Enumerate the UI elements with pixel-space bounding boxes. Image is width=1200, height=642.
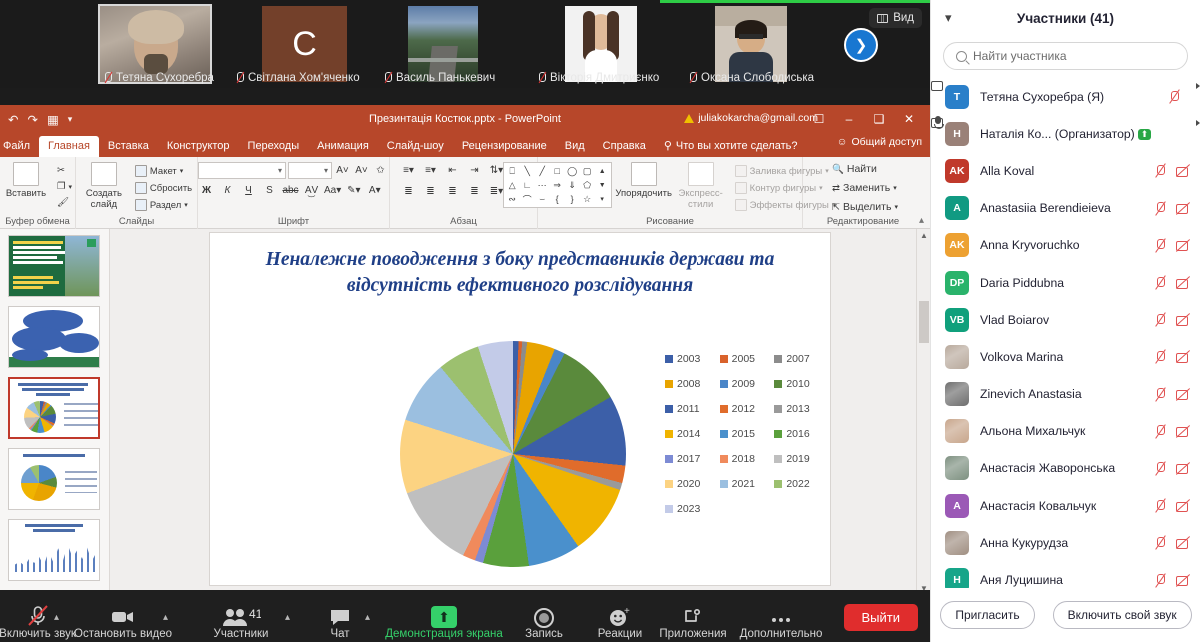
search-participant-input[interactable]: Найти участника <box>943 42 1188 70</box>
zoom-meeting-window: Тетяна Сухоребра С Світлана Хом'яченко <box>0 0 930 642</box>
participant-name: Anna Kryvoruchko <box>980 238 1153 252</box>
text-highlight-button[interactable]: ✎▾ <box>345 182 362 199</box>
legend-item: 2011 <box>665 403 716 415</box>
tab-home[interactable]: Главная <box>39 136 99 157</box>
participant-row[interactable]: AАнастасія Ковальчук <box>931 487 1200 524</box>
group-label: Шрифт <box>198 216 389 227</box>
mic-off-icon[interactable] <box>1153 387 1167 401</box>
avatar-initials: AK <box>945 159 969 183</box>
participant-status-icons <box>1153 201 1190 215</box>
slide-canvas-area[interactable]: Неналежне поводження з боку представникі… <box>110 229 930 610</box>
tab-animations[interactable]: Анимация <box>308 136 378 157</box>
section-button[interactable]: Раздел ▾ <box>133 198 194 212</box>
reactions-label: Реакции <box>598 628 642 640</box>
legend-item: 2005 <box>720 353 771 365</box>
legend-label: 2019 <box>786 453 809 465</box>
change-case-button[interactable]: Aa▾ <box>324 182 341 199</box>
section-label: Раздел <box>150 200 181 211</box>
ribbon-display-icon[interactable]: ☐ <box>804 112 834 126</box>
legend-swatch <box>774 405 782 413</box>
textbox-shape[interactable]: ⎕ <box>505 164 520 178</box>
legend-item: 2019 <box>774 453 825 465</box>
quick-styles-button[interactable]: Экспресс-стили <box>676 162 726 210</box>
legend-label: 2011 <box>677 403 700 415</box>
avatar-photo <box>945 456 969 480</box>
legend-label: 2021 <box>732 478 755 490</box>
select-button[interactable]: ⇱ Выделить ▾ <box>830 200 900 214</box>
ppt-workspace: Неналежне поводження з боку представникі… <box>0 229 930 610</box>
mic-off-icon[interactable] <box>1153 201 1167 215</box>
legend-swatch <box>774 355 782 363</box>
video-options-caret-icon[interactable]: ▴ <box>163 612 168 623</box>
host-badge-icon: ⬆ <box>1138 129 1152 140</box>
ribbon-group-slides: Создать слайд Макет ▾ Сбросить <box>76 157 198 229</box>
format-painter-icon: 🖌 <box>57 197 69 208</box>
legend-swatch <box>665 405 673 413</box>
avatar-initials: DP <box>945 271 969 295</box>
tab-help[interactable]: Справка <box>594 136 655 157</box>
warning-icon <box>684 114 694 123</box>
leave-meeting-button[interactable]: Выйти <box>844 604 919 631</box>
mic-off-icon[interactable] <box>1153 499 1167 513</box>
new-slide-button[interactable]: Создать слайд <box>79 162 129 210</box>
reactions-icon: + <box>608 604 632 628</box>
participant-status-icons <box>1153 387 1190 401</box>
chevron-down-icon: ▾ <box>180 167 184 175</box>
search-icon: 🔍 <box>832 164 844 175</box>
shrink-font-button[interactable]: A˅ <box>353 162 370 179</box>
apps-icon <box>682 604 704 628</box>
legend-swatch <box>774 380 782 388</box>
format-painter-button[interactable]: 🖌 <box>55 196 74 209</box>
legend-swatch <box>665 455 673 463</box>
paste-label: Вставить <box>6 188 46 199</box>
participant-status-icons <box>1153 313 1190 327</box>
participant-row[interactable]: AKAnna Kryvoruchko <box>931 227 1200 264</box>
mic-off-icon <box>235 71 244 84</box>
mic-off-icon[interactable] <box>1167 90 1181 104</box>
participant-row[interactable]: AAnastasiia Berendieieva <box>931 190 1200 227</box>
avatar-initials: AK <box>945 233 969 257</box>
numbering-button[interactable]: ≡▾ <box>422 162 439 179</box>
account-warning[interactable]: juliakokarcha@gmail.com <box>684 112 818 124</box>
tile-name: Світлана Хом'яченко <box>248 72 360 84</box>
avatar-photo <box>945 419 969 443</box>
new-slide-icon <box>91 162 117 186</box>
slide-thumbnail-selected[interactable] <box>8 377 100 439</box>
layout-button[interactable]: Макет ▾ <box>133 164 194 178</box>
shadow-button[interactable]: S <box>261 182 278 199</box>
legend-label: 2008 <box>677 378 700 390</box>
collapse-ribbon-icon[interactable]: ▴ <box>919 215 924 226</box>
participant-row[interactable]: VBVlad Boiarov <box>931 301 1200 338</box>
camera-off-icon[interactable] <box>1176 573 1190 587</box>
replace-icon: ⇄ <box>832 183 840 194</box>
tile-caption: Вікторія Дмитриєнко <box>537 71 659 84</box>
legend-swatch <box>720 405 728 413</box>
record-label: Запись <box>525 628 563 640</box>
mic-off-icon <box>537 71 546 84</box>
legend-swatch <box>665 355 673 363</box>
legend-swatch <box>720 455 728 463</box>
toolbar-more-button[interactable]: Дополнительно <box>730 604 832 640</box>
slide-vertical-scrollbar[interactable]: ▲ ▼ <box>916 229 930 610</box>
participant-status-icons <box>1153 164 1190 178</box>
legend-item: 2020 <box>665 478 716 490</box>
grid-icon <box>877 14 888 23</box>
mic-off-icon[interactable] <box>1153 350 1167 364</box>
slide-thumbnail[interactable] <box>8 235 100 297</box>
align-left-button[interactable]: ≣ <box>400 183 417 200</box>
unmute-self-button[interactable]: Включить свой звук <box>1053 601 1192 629</box>
participant-row[interactable]: Альона Михальчук <box>931 413 1200 450</box>
participant-status-icons <box>1153 499 1190 513</box>
chevron-right-icon: ❯ <box>855 36 868 54</box>
scroll-up-icon[interactable]: ▲ <box>917 229 931 243</box>
font-color-button[interactable]: A▾ <box>366 182 383 199</box>
toolbar-video-button[interactable]: Остановить видео <box>78 604 168 640</box>
shared-screen-powerpoint: ↶ ↷ ▦ ▾ Презинтація Костюк.pptx - PowerP… <box>0 105 930 626</box>
legend-label: 2005 <box>732 353 755 365</box>
current-slide[interactable]: Неналежне поводження з боку представникі… <box>210 233 830 585</box>
copy-icon: ❐ <box>57 181 66 192</box>
camera-off-icon[interactable] <box>1176 238 1190 252</box>
bullets-button[interactable]: ≡▾ <box>400 162 417 179</box>
pie-chart-graphic <box>400 341 626 567</box>
right-arrow-shape[interactable]: ⇒ <box>550 178 565 192</box>
more-label: Дополнительно <box>740 628 823 640</box>
slide-thumbnail[interactable] <box>8 519 100 581</box>
next-page-button[interactable]: ❯ <box>844 28 878 62</box>
video-label: Остановить видео <box>74 628 172 640</box>
quick-styles-label: Экспресс-стили <box>676 188 726 210</box>
legend-label: 2015 <box>732 428 755 440</box>
character-spacing-button[interactable]: A͜V <box>303 182 320 199</box>
legend-label: 2013 <box>786 403 809 415</box>
toolbar-share-screen-button[interactable]: ⬆ Демонстрация экрана <box>382 604 506 640</box>
shapes-scroll-up-icon[interactable]: ▲ <box>595 164 610 178</box>
participant-row[interactable]: AKAlla Koval <box>931 152 1200 189</box>
legend-item: 2009 <box>720 378 771 390</box>
scrollbar-thumb[interactable] <box>919 301 929 343</box>
legend-label: 2018 <box>732 453 755 465</box>
participant-role: (Организатор) <box>1051 127 1134 141</box>
video-on-icon <box>110 604 136 628</box>
brace-right-shape[interactable]: } <box>565 192 580 206</box>
toolbar-mute-button[interactable]: Включить звук <box>0 604 75 640</box>
participants-panel-title: Участники (41) <box>931 11 1200 26</box>
legend-label: 2017 <box>677 453 700 465</box>
pie-chart[interactable] <box>400 341 630 571</box>
layout-icon <box>135 165 147 177</box>
shapes-more-icon[interactable]: ▾ <box>595 192 610 206</box>
camera-off-icon[interactable] <box>1176 201 1190 215</box>
participant-row[interactable]: Volkova Marina <box>931 338 1200 375</box>
down-arrow-shape[interactable]: ⇓ <box>565 178 580 192</box>
legend-item: 2014 <box>665 428 716 440</box>
triangle-shape[interactable]: △ <box>505 178 520 192</box>
camera-off-icon[interactable] <box>1176 164 1190 178</box>
mic-off-icon[interactable] <box>1153 164 1167 178</box>
align-center-button[interactable]: ≣ <box>422 183 439 200</box>
tile-caption: Оксана Слободиська <box>688 71 814 84</box>
tile-caption: Тетяна Сухоребра <box>103 71 214 84</box>
mic-off-icon <box>688 71 697 84</box>
legend-swatch <box>665 505 673 513</box>
svg-text:+: + <box>624 606 630 617</box>
tell-me-box[interactable]: ⚲ Что вы хотите сделать? <box>655 135 807 157</box>
tab-slideshow[interactable]: Слайд-шоу <box>378 136 453 157</box>
chevron-down-icon[interactable]: ▾ <box>945 10 952 26</box>
leave-label: Выйти <box>862 610 901 625</box>
arc-shape[interactable]: ⌣ <box>535 192 550 206</box>
participant-name: Vlad Boiarov <box>980 313 1153 327</box>
tab-view[interactable]: Вид <box>556 136 594 157</box>
ribbon-group-clipboard: Вставить ✂ ❐▾ 🖌 Буфер обмена <box>0 157 76 229</box>
connector-shape[interactable]: ⋯ <box>535 178 550 192</box>
participant-name: Наталія Ко... (Организатор)⬆ <box>980 127 1181 141</box>
participant-status-icons <box>1153 461 1190 475</box>
customize-qat-icon[interactable]: ▾ <box>68 114 73 125</box>
camera-off-icon[interactable] <box>1176 461 1190 475</box>
participants-caret-icon[interactable]: ▴ <box>285 612 290 623</box>
reset-button[interactable]: Сбросить <box>133 181 194 195</box>
legend-item: 2010 <box>774 378 825 390</box>
roundrect-shape[interactable]: ▢ <box>580 164 595 178</box>
shape-outline-icon <box>735 182 747 194</box>
tab-transitions[interactable]: Переходы <box>239 136 309 157</box>
chat-label: Чат <box>330 628 349 640</box>
toolbar-participants-button[interactable]: 41 Участники <box>200 604 282 640</box>
quick-access-toolbar[interactable]: ↶ ↷ ▦ ▾ <box>0 112 72 127</box>
slide-thumbnail-pane[interactable] <box>0 229 110 610</box>
toolbar-apps-button[interactable]: Приложения <box>650 604 736 640</box>
person-icon: ☺ <box>837 136 848 148</box>
paste-button[interactable]: Вставить <box>1 162 51 199</box>
tell-me-label: Что вы хотите сделать? <box>676 140 798 152</box>
avatar-photo <box>945 345 969 369</box>
copy-button[interactable]: ❐▾ <box>55 180 74 193</box>
mic-off-icon[interactable] <box>1153 276 1167 290</box>
window-controls[interactable]: ☐ – ❑ ✕ <box>804 105 924 133</box>
arrange-button[interactable]: Упорядочить <box>619 162 669 199</box>
legend-item: 2015 <box>720 428 771 440</box>
strikethrough-button[interactable]: abc <box>282 182 299 199</box>
shapes-scroll-down-icon[interactable]: ▼ <box>595 178 610 192</box>
toolbar-chat-button[interactable]: Чат <box>318 604 362 640</box>
tab-review[interactable]: Рецензирование <box>453 136 556 157</box>
camera-off-icon[interactable] <box>1176 499 1190 513</box>
legend-item: 2003 <box>665 353 716 365</box>
apps-label: Приложения <box>659 628 726 640</box>
participant-row[interactable]: DPDaria Piddubna <box>931 264 1200 301</box>
participant-status-icons <box>1153 238 1190 252</box>
mic-off-icon[interactable] <box>1153 461 1167 475</box>
mic-off-icon <box>383 71 392 84</box>
legend-swatch <box>720 380 728 388</box>
star-shape[interactable]: ☆ <box>580 192 595 206</box>
legend-item: 2012 <box>720 403 771 415</box>
participant-status-icons <box>1153 536 1190 550</box>
participant-name: Анастасія Жаворонська <box>980 461 1153 475</box>
avatar-photo <box>945 382 969 406</box>
toolbar-reactions-button[interactable]: + Реакции <box>588 604 652 640</box>
shapes-gallery[interactable]: ⎕ ╲ ╱ □ ◯ ▢ ▲ △ ∟ ⋯ ⇒ ⇓ ⬠ <box>503 162 612 208</box>
minimize-icon[interactable]: – <box>834 112 864 126</box>
font-name-input[interactable]: ▾ <box>198 162 286 179</box>
slide-thumbnail[interactable] <box>8 306 100 368</box>
invite-button[interactable]: Пригласить <box>940 601 1034 629</box>
legend-swatch <box>720 355 728 363</box>
reset-label: Сбросить <box>150 183 192 194</box>
replace-button[interactable]: ⇄ Заменить ▾ <box>830 181 899 195</box>
view-button[interactable]: Вид <box>869 8 922 28</box>
participant-row[interactable]: ННаталія Ко... (Организатор)⬆ <box>931 115 1200 152</box>
legend-swatch <box>665 430 673 438</box>
mic-off-icon[interactable] <box>1153 573 1167 587</box>
legend-label: 2014 <box>677 428 700 440</box>
share-access-button[interactable]: ☺ Общий доступ <box>837 136 922 148</box>
participants-icon: 41 <box>221 604 261 628</box>
curve-shape[interactable]: ⌒ <box>520 192 535 206</box>
legend-item: 2008 <box>665 378 716 390</box>
participant-name: Zinevich Anastasia <box>980 387 1153 401</box>
zoom-controls-bar: Включить звук ▴ Остановить видео ▴ <box>0 590 930 642</box>
legend-item: 2022 <box>774 478 825 490</box>
legend-swatch <box>774 480 782 488</box>
decrease-indent-button[interactable]: ⇤ <box>444 162 461 179</box>
tab-insert[interactable]: Вставка <box>99 136 158 157</box>
bold-button[interactable]: Ж <box>198 182 215 199</box>
font-size-input[interactable]: ▾ <box>288 162 332 179</box>
shape-effects-icon <box>735 199 747 211</box>
brace-left-shape[interactable]: { <box>550 192 565 206</box>
redo-icon[interactable]: ↷ <box>27 112 37 127</box>
ribbon-tab-strip[interactable]: Файл Главная Вставка Конструктор Переход… <box>0 133 930 157</box>
camera-off-icon[interactable] <box>1176 313 1190 327</box>
restore-icon[interactable]: ❑ <box>864 112 894 126</box>
mic-off-icon[interactable] <box>1153 313 1167 327</box>
legend-item: 2023 <box>665 503 716 515</box>
legend-label: 2012 <box>732 403 755 415</box>
freeform-shape[interactable]: ∾ <box>505 192 520 206</box>
arrange-icon <box>631 162 657 186</box>
avatar-initials: Н <box>945 122 969 146</box>
audio-options-caret-icon[interactable]: ▴ <box>54 612 59 623</box>
participant-row[interactable]: Zinevich Anastasia <box>931 376 1200 413</box>
camera-off-icon[interactable] <box>1176 350 1190 364</box>
paste-icon <box>13 162 39 186</box>
participant-row[interactable]: ТТетяна Сухоребра (Я) <box>931 78 1200 115</box>
slide-title[interactable]: Неналежне поводження з боку представникі… <box>250 247 790 299</box>
pentagon-shape[interactable]: ⬠ <box>580 178 595 192</box>
mic-off-icon[interactable] <box>1153 424 1167 438</box>
legend-item: 2018 <box>720 453 771 465</box>
participant-name: Тетяна Сухоребра (Я) <box>980 90 1167 104</box>
arrow-shape[interactable]: ╱ <box>535 164 550 178</box>
cut-button[interactable]: ✂ <box>55 164 74 177</box>
slide-thumbnail[interactable] <box>8 448 100 510</box>
italic-button[interactable]: К <box>219 182 236 199</box>
legend-label: 2009 <box>732 378 755 390</box>
legend-swatch <box>774 430 782 438</box>
participant-row[interactable]: Анастасія Жаворонська <box>931 450 1200 487</box>
mic-off-icon[interactable] <box>1153 238 1167 252</box>
grow-font-button[interactable]: A˅ <box>334 162 351 179</box>
participant-name: Alla Koval <box>980 164 1153 178</box>
ribbon-group-editing: 🔍 Найти ⇄ Заменить ▾ ⇱ Выделить ▾ <box>803 157 923 229</box>
mic-off-icon[interactable] <box>1153 536 1167 550</box>
participants-list[interactable]: ТТетяна Сухоребра (Я)ННаталія Ко... (Орг… <box>931 78 1200 630</box>
tile-name: Василь Панькевич <box>396 72 495 84</box>
start-slideshow-icon[interactable]: ▦ <box>47 112 59 127</box>
active-speaker-indicator <box>660 0 945 3</box>
chevron-down-icon: ▾ <box>184 201 188 209</box>
toolbar-record-button[interactable]: Запись <box>512 604 576 640</box>
legend-label: 2016 <box>786 428 809 440</box>
tile-caption: Світлана Хом'яченко <box>235 71 360 84</box>
elbow-shape[interactable]: ∟ <box>520 178 535 192</box>
tab-design[interactable]: Конструктор <box>158 136 239 157</box>
justify-button[interactable]: ≣ <box>466 183 483 200</box>
ppt-title-bar: ↶ ↷ ▦ ▾ Презинтація Костюк.pptx - PowerP… <box>0 105 930 133</box>
ribbon-group-drawing: ⎕ ╲ ╱ □ ◯ ▢ ▲ △ ∟ ⋯ ⇒ ⇓ ⬠ <box>538 157 803 229</box>
camera-off-icon[interactable] <box>1176 276 1190 290</box>
avatar-initials: A <box>945 494 969 518</box>
participant-status-icons <box>1153 276 1190 290</box>
camera-off-icon[interactable] <box>1176 536 1190 550</box>
close-icon[interactable]: ✕ <box>894 112 924 126</box>
participant-row[interactable]: Анна Кукурудза <box>931 524 1200 561</box>
select-icon: ⇱ <box>832 202 840 213</box>
undo-icon[interactable]: ↶ <box>8 112 18 127</box>
participant-status-icons <box>1153 350 1190 364</box>
chat-caret-icon[interactable]: ▴ <box>365 612 370 623</box>
align-right-button[interactable]: ≣ <box>444 183 461 200</box>
participant-name: Anastasiia Berendieieva <box>980 201 1153 215</box>
share-access-label: Общий доступ <box>851 136 922 148</box>
svg-text:41: 41 <box>249 607 261 621</box>
group-label: Абзац <box>390 216 537 227</box>
tile-name: Оксана Слободиська <box>701 72 814 84</box>
oval-shape[interactable]: ◯ <box>565 164 580 178</box>
legend-item: 2016 <box>774 428 825 440</box>
line-shape[interactable]: ╲ <box>520 164 535 178</box>
group-label: Слайды <box>76 216 197 227</box>
increase-indent-button[interactable]: ⇥ <box>466 162 483 179</box>
mic-off-icon <box>27 604 49 628</box>
clear-formatting-button[interactable]: ✩ <box>372 162 389 179</box>
account-email: juliakokarcha@gmail.com <box>698 112 818 124</box>
share-screen-label: Демонстрация экрана <box>385 628 503 640</box>
camera-off-icon[interactable] <box>1176 387 1190 401</box>
underline-button[interactable]: Ч <box>240 182 257 199</box>
arrange-label: Упорядочить <box>615 188 672 199</box>
cut-icon: ✂ <box>57 165 65 176</box>
ribbon-group-font: ▾ ▾ A˅ A˅ ✩ Ж К Ч S abc A͜V <box>198 157 390 229</box>
legend-swatch <box>665 480 673 488</box>
participant-name: Анастасія Ковальчук <box>980 499 1153 513</box>
camera-off-icon[interactable] <box>1176 424 1190 438</box>
legend-swatch <box>720 430 728 438</box>
mic-off-icon <box>103 71 112 84</box>
layout-label: Макет <box>150 166 177 177</box>
rect-shape[interactable]: □ <box>550 164 565 178</box>
legend-label: 2003 <box>677 353 700 365</box>
group-label: Буфер обмена <box>0 216 75 227</box>
find-button[interactable]: 🔍 Найти <box>830 162 879 176</box>
tab-file[interactable]: Файл <box>0 136 39 157</box>
